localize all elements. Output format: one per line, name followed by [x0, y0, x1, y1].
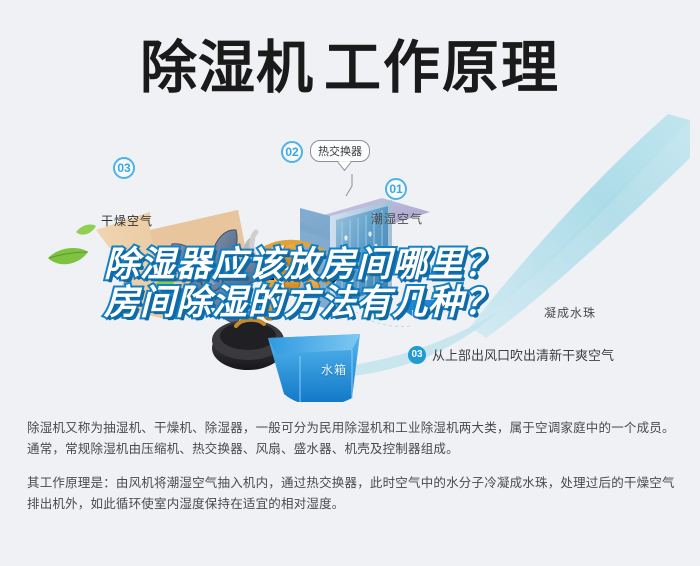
dry-air-label: 干燥空气 — [101, 212, 153, 229]
overlay-headline: 除湿器应该放房间哪里？ 房间除湿的方法有几种？ — [104, 246, 624, 322]
article-body: 除湿机又称为抽湿机、干燥机、除湿器，一般可分为民用除湿机和工业除湿机两大类，属于… — [27, 418, 675, 515]
body-paragraph-2: 其工作原理是：由风机将潮湿空气抽入机内，通过热交换器，此时空气中的水分子冷凝成水… — [27, 473, 675, 515]
page-title: 除湿机 工作原理 — [0, 24, 700, 112]
heat-exchanger-label: 热交换器 — [318, 146, 362, 158]
humid-air-label: 潮湿空气 — [371, 210, 423, 227]
bottom-step-text: 从上部出风口吹出清新干爽空气 — [432, 345, 614, 364]
dehumidifier-infographic-page: 除湿机 工作原理 — [0, 0, 700, 566]
title-part-one: 除湿机 — [140, 40, 314, 97]
water-tank-label: 水箱 — [321, 361, 347, 378]
overlay-headline-line-1: 除湿器应该放房间哪里？ — [104, 246, 624, 284]
bottom-step-badge: 03 — [408, 346, 426, 364]
step-badge-02: 02 — [281, 141, 303, 163]
step-badge-03: 03 — [113, 157, 135, 179]
bubble-pointer-shape — [346, 174, 352, 196]
step-badge-01: 01 — [385, 178, 407, 200]
body-paragraph-1: 除湿机又称为抽湿机、干燥机、除湿器，一般可分为民用除湿机和工业除湿机两大类，属于… — [27, 418, 675, 460]
title-part-two: 工作原理 — [324, 40, 560, 97]
overlay-headline-line-2: 房间除湿的方法有几种？ — [104, 284, 624, 322]
bottom-step-line: 03 从上部出风口吹出清新干爽空气 — [408, 345, 614, 364]
heat-exchanger-callout-bubble: 热交换器 — [310, 140, 370, 162]
